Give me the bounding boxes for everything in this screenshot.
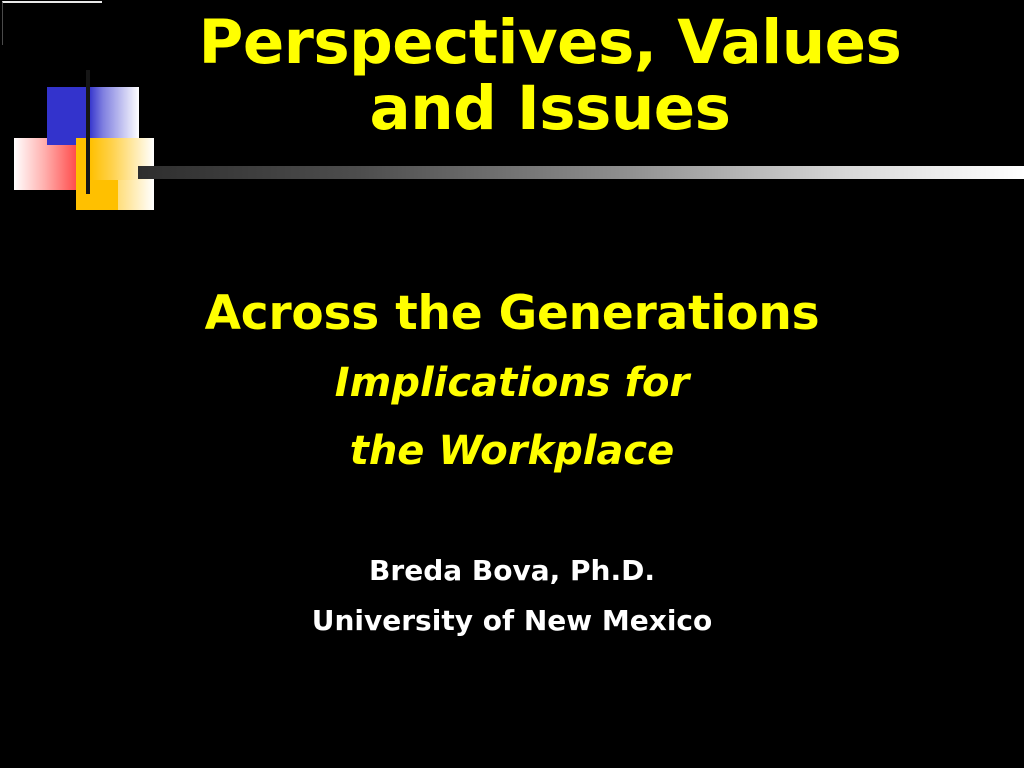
gradient-divider-bar xyxy=(138,166,1024,179)
slide-title: Perspectives, Values and Issues xyxy=(150,10,950,142)
slide-body: Across the Generations Implications for … xyxy=(0,288,1024,471)
logo-blue-square xyxy=(47,87,89,145)
author-affiliation: University of New Mexico xyxy=(0,607,1024,635)
title-line-2: and Issues xyxy=(150,76,950,142)
logo-blue-gradient-square xyxy=(89,87,139,145)
body-headline: Across the Generations xyxy=(0,288,1024,341)
title-line-1: Perspectives, Values xyxy=(150,10,950,76)
author-credit: Breda Bova, Ph.D. University of New Mexi… xyxy=(0,557,1024,635)
frame-remnant-decoration xyxy=(2,1,102,45)
logo-vertical-rule xyxy=(86,70,90,194)
body-subline-2: the Workplace xyxy=(0,431,1024,471)
presentation-slide: Perspectives, Values and Issues Across t… xyxy=(0,0,1024,768)
author-name: Breda Bova, Ph.D. xyxy=(0,557,1024,585)
body-subline-1: Implications for xyxy=(0,363,1024,403)
colored-squares-logo xyxy=(14,70,150,192)
